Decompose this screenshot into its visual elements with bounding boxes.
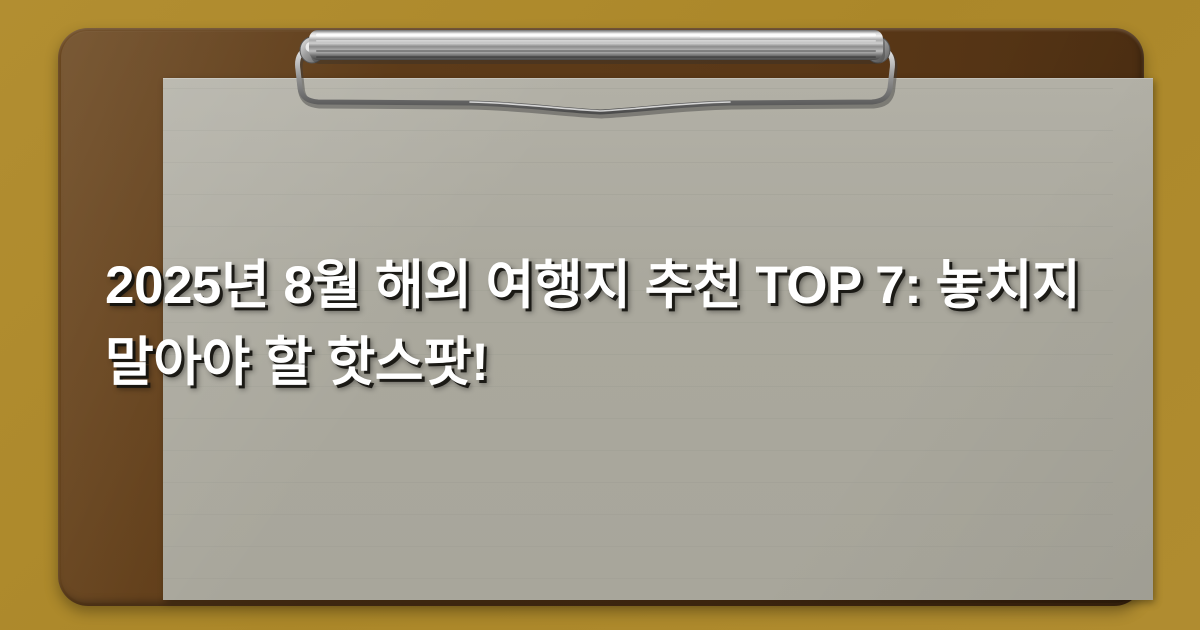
page-title: 2025년 8월 해외 여행지 추천 TOP 7: 놓치지 말아야 할 핫스팟!: [105, 248, 1095, 402]
title-block: 2025년 8월 해외 여행지 추천 TOP 7: 놓치지 말아야 할 핫스팟!: [105, 248, 1095, 402]
